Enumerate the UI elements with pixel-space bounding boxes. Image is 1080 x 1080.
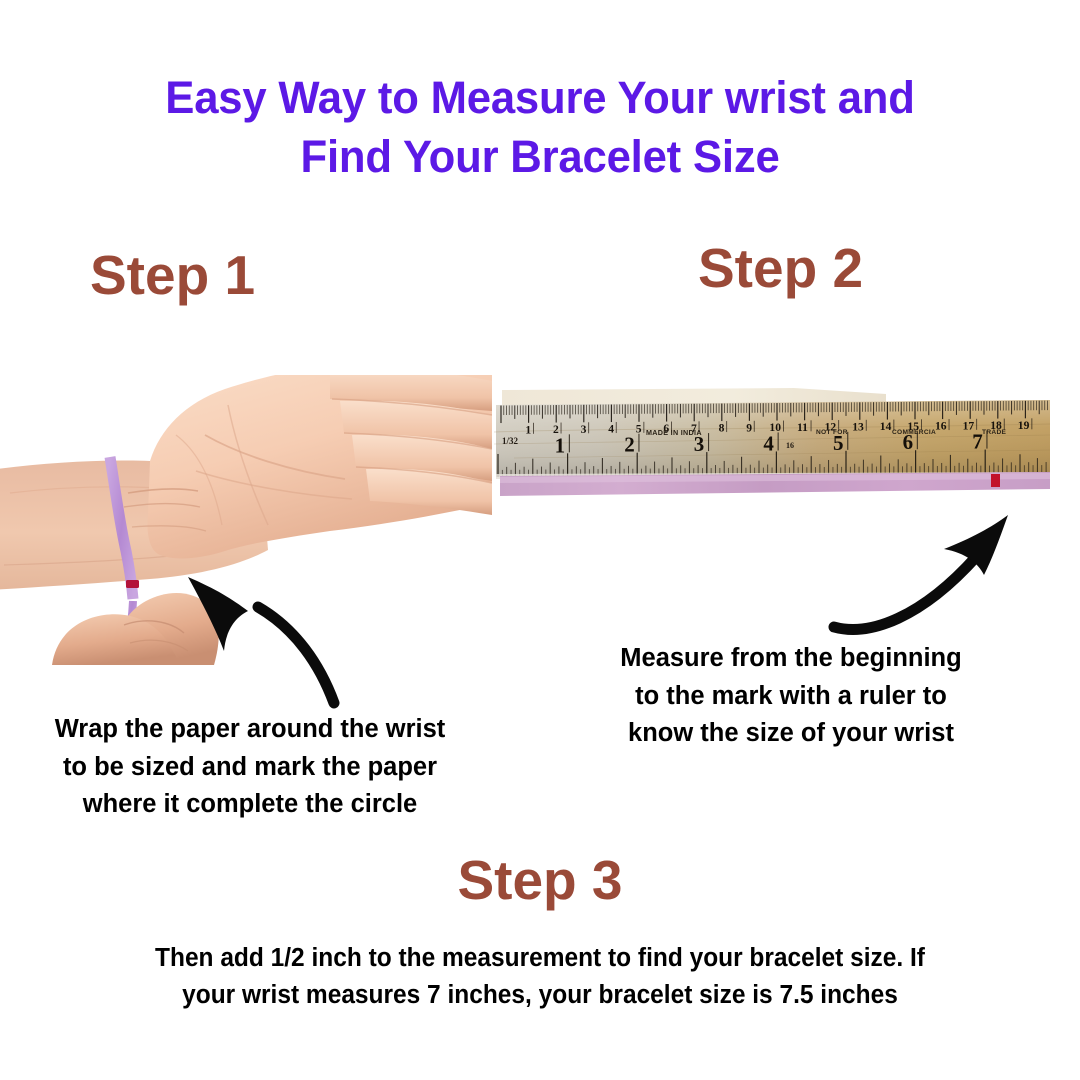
imprint-sixteenth: 16: [786, 441, 794, 450]
cm-label-5: 5: [636, 422, 642, 435]
arrowhead: [188, 577, 248, 651]
paper-strip-red-mark: [126, 580, 139, 588]
page-title: Easy Way to Measure Your wrist and Find …: [0, 68, 1080, 186]
cm-label-3: 3: [581, 423, 587, 436]
paper-strip-red-mark: [991, 474, 1000, 487]
step-1-caption-line-1: Wrap the paper around the wrist: [8, 711, 492, 749]
step-1-caption-line-3: where it complete the circle: [8, 786, 492, 824]
page-title-line-1: Easy Way to Measure Your wrist and: [16, 68, 1064, 127]
step-2-caption-line-3: know the size of your wrist: [572, 715, 1010, 753]
inch-label-4: 4: [763, 431, 774, 455]
arrowhead: [944, 515, 1008, 575]
step-3-caption-line-2: your wrist measures 7 inches, your brace…: [79, 977, 1001, 1014]
imprint-trade: TRADE: [982, 429, 1007, 436]
cm-label-1: 1: [525, 423, 531, 436]
cm-label-16: 16: [935, 420, 947, 433]
cm-label-4: 4: [608, 423, 614, 436]
step-1-caption: Wrap the paper around the wrist to be si…: [8, 711, 492, 824]
step-2-caption: Measure from the beginning to the mark w…: [572, 640, 1010, 753]
step-3-heading: Step 3: [0, 850, 1080, 910]
imprint-made-in-india: MADE IN INDIA: [646, 428, 702, 437]
page-title-line-2: Find Your Bracelet Size: [16, 127, 1064, 186]
step-1-heading: Step 1: [90, 245, 255, 305]
arrow-to-ruler-mark: [826, 505, 1026, 650]
cm-label-13: 13: [852, 420, 864, 433]
cm-label-19: 19: [1018, 419, 1030, 432]
inch-label-1: 1: [555, 433, 566, 457]
step-2-caption-line-1: Measure from the beginning: [572, 640, 1010, 678]
inch-label-2: 2: [624, 433, 635, 457]
step-3-caption-line-1: Then add 1/2 inch to the measurement to …: [79, 940, 1001, 977]
step-2-heading: Step 2: [698, 238, 863, 298]
cm-label-9: 9: [746, 421, 752, 434]
arrow-to-wrist-mark: [170, 555, 370, 710]
ruler-photo: 12345678910111213141516171819 1234567 MA…: [494, 386, 1050, 502]
cm-label-14: 14: [880, 420, 892, 433]
imprint-not-for: NOT FOR: [816, 429, 848, 436]
cm-label-11: 11: [797, 421, 808, 434]
imprint-fraction-32: 1/32: [502, 436, 519, 446]
cm-label-8: 8: [719, 422, 725, 435]
step-2-caption-line-2: to the mark with a ruler to: [572, 678, 1010, 716]
step-3-caption: Then add 1/2 inch to the measurement to …: [79, 940, 1001, 1014]
step-1-caption-line-2: to be sized and mark the paper: [8, 749, 492, 787]
imprint-commercial: COMMERCIA: [892, 429, 936, 436]
